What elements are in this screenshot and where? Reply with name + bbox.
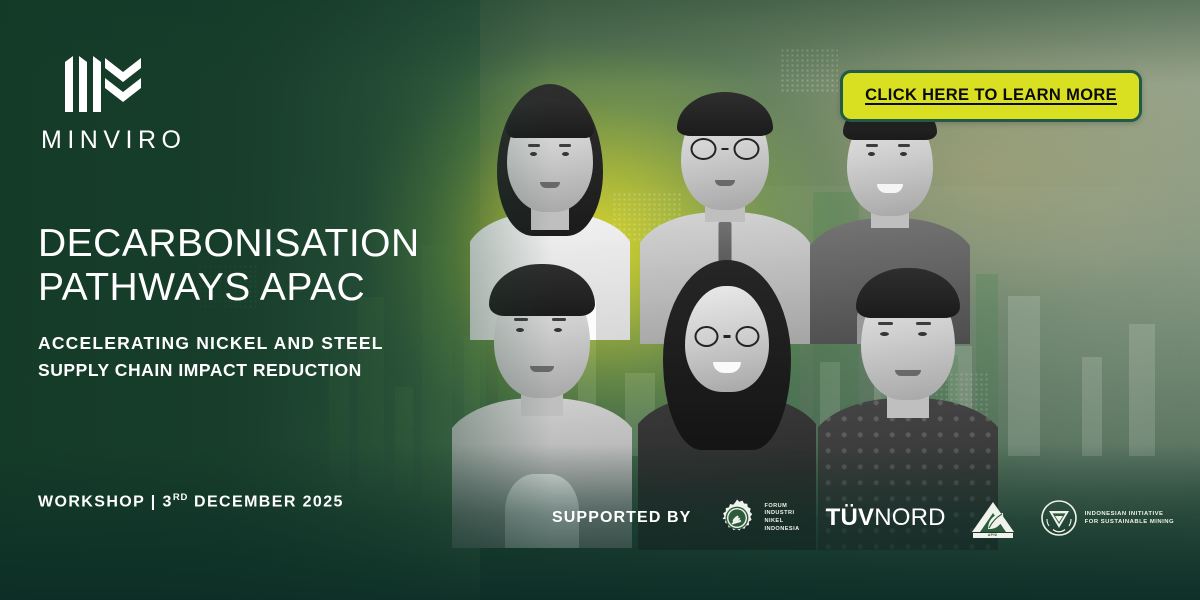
- sponsor-text-line-2: FOR SUSTAINABLE MINING: [1085, 518, 1174, 526]
- event-date-line: WORKSHOP | 3RD DECEMBER 2025: [38, 492, 344, 511]
- event-separator: |: [151, 493, 157, 510]
- sponsor-text-line-4: INDONESIA: [764, 526, 799, 534]
- sponsor-logo-forum-industri-nikel-indonesia[interactable]: FORUM INDUSTRI NIKEL INDONESIA: [717, 498, 799, 538]
- event-ordinal: RD: [173, 492, 188, 503]
- learn-more-button[interactable]: CLICK HERE TO LEARN MORE: [840, 70, 1142, 122]
- circular-triangle-badge-icon: [1040, 499, 1078, 537]
- event-label: WORKSHOP: [38, 493, 145, 510]
- sponsor-text-line-1: INDONESIAN INITIATIVE: [1085, 510, 1174, 518]
- eyeglasses-icon: [691, 138, 760, 160]
- sponsor-text-line-2: INDUSTRI: [764, 510, 799, 518]
- sponsor-bar: SUPPORTED BY FORUM INDUSTRI NIKEL INDONE: [552, 498, 1174, 538]
- tuv-bold-text: TÜV: [826, 504, 875, 531]
- subheading-line-2: SUPPLY CHAIN IMPACT REDUCTION: [38, 357, 458, 384]
- sponsor-logo-indonesian-initiative-sustainable-mining[interactable]: INDONESIAN INITIATIVE FOR SUSTAINABLE MI…: [1040, 499, 1174, 537]
- gear-hand-icon: [717, 498, 757, 538]
- event-month-year: DECEMBER 2025: [194, 493, 344, 510]
- eyeglasses-icon: [695, 326, 760, 347]
- sponsor-logo-triangle-leaf[interactable]: APNI: [972, 498, 1014, 538]
- page-title: DECARBONISATION PATHWAYS APAC: [38, 222, 458, 309]
- sponsor-text-line-3: NIKEL: [764, 518, 799, 526]
- headline-line-1: DECARBONISATION: [38, 222, 420, 265]
- sponsor-logo-tuv-nord[interactable]: TÜVNORD: [826, 504, 946, 532]
- sponsor-text-line-1: FORUM: [764, 503, 799, 511]
- brand-name: MINVIRO: [38, 126, 228, 155]
- subheading: ACCELERATING NICKEL AND STEEL SUPPLY CHA…: [38, 330, 458, 384]
- minviro-m-mark-icon: [61, 52, 147, 114]
- headline-line-2: PATHWAYS APAC: [38, 266, 458, 310]
- sponsor-logo-text: INDONESIAN INITIATIVE FOR SUSTAINABLE MI…: [1085, 510, 1174, 527]
- event-day: 3: [163, 493, 173, 510]
- supported-by-label: SUPPORTED BY: [552, 509, 691, 527]
- subheading-line-1: ACCELERATING NICKEL AND STEEL: [38, 333, 384, 353]
- leaf-icon: [985, 512, 1005, 530]
- promo-banner: MINVIRO DECARBONISATION PATHWAYS APAC AC…: [0, 0, 1200, 600]
- triangle-base-label: APNI: [973, 533, 1013, 538]
- sponsor-logo-text: FORUM INDUSTRI NIKEL INDONESIA: [764, 503, 799, 534]
- headline-block: DECARBONISATION PATHWAYS APAC ACCELERATI…: [38, 222, 458, 385]
- learn-more-button-label: CLICK HERE TO LEARN MORE: [865, 86, 1117, 105]
- brand-logo[interactable]: MINVIRO: [38, 52, 228, 155]
- nord-light-text: NORD: [874, 504, 945, 531]
